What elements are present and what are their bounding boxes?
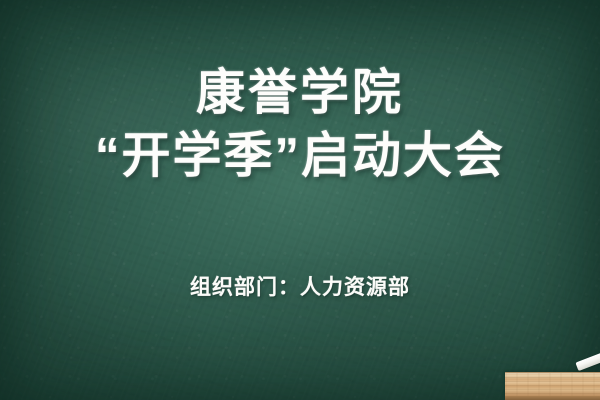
slide-title-line-2: “开学季”启动大会 <box>0 125 600 188</box>
slide-subtitle: 组织部门：人力资源部 <box>0 274 600 302</box>
chalkboard-streak-texture <box>0 0 600 400</box>
chalkboard-vignette <box>0 0 600 400</box>
slide-title-block: 康誉学院 “开学季”启动大会 <box>0 62 600 188</box>
chalkboard-speckle-texture <box>0 0 600 400</box>
chalk-ledge <box>505 372 600 400</box>
chalk-stick-icon <box>575 352 600 371</box>
chalk-ledge-lip <box>505 396 600 400</box>
chalkboard-smudge-texture <box>0 0 600 400</box>
slide-title-line-1: 康誉学院 <box>0 62 600 125</box>
title-slide: 康誉学院 “开学季”启动大会 组织部门：人力资源部 <box>0 0 600 400</box>
